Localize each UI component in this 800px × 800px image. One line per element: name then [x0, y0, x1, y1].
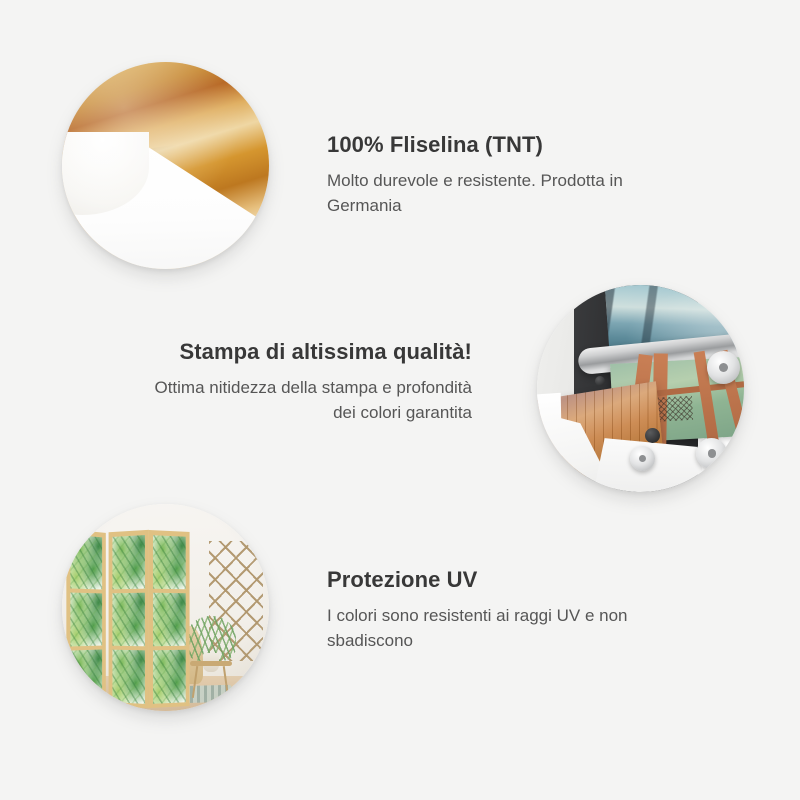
divider-pane: [153, 593, 186, 650]
divider-panel: [66, 529, 106, 709]
divider-pane: [112, 593, 145, 651]
printer-wheel: [707, 351, 740, 384]
printer-wheel: [696, 438, 727, 469]
tropical-room-divider-photo: [62, 504, 269, 711]
feature-description-fliselina: Molto durevole e resistente. Prodotta in…: [327, 169, 667, 219]
tropical-room-divider: [66, 531, 190, 707]
feature-image-fliselina: [62, 62, 269, 269]
printed-mesh: [657, 396, 692, 421]
divider-pane: [70, 592, 102, 650]
large-format-printer-photo: [537, 285, 744, 492]
divider-pane: [70, 534, 102, 593]
divider-pane: [153, 650, 186, 704]
divider-panel: [108, 530, 149, 708]
wheel-hub: [708, 449, 717, 458]
feature-text-stampa: Stampa di altissima qualità! Ottima niti…: [142, 340, 472, 426]
divider-pane: [153, 535, 186, 593]
divider-pane: [70, 649, 102, 704]
divider-pane: [112, 650, 145, 704]
photo-sheen: [62, 62, 269, 269]
feature-text-fliselina: 100% Fliselina (TNT) Molto durevole e re…: [327, 133, 667, 219]
feature-text-protezione-uv: Protezione UV I colori sono resistenti a…: [327, 568, 657, 654]
divider-pane: [112, 535, 145, 593]
feature-title-protezione-uv: Protezione UV: [327, 568, 657, 593]
divider-panel: [149, 530, 190, 708]
feature-description-protezione-uv: I colori sono resistenti ai raggi UV e n…: [327, 604, 657, 654]
feature-image-stampa: [537, 285, 744, 492]
feature-description-stampa: Ottima nitidezza della stampa e profondi…: [142, 376, 472, 426]
feature-title-stampa: Stampa di altissima qualità!: [142, 340, 472, 365]
wheel-hub: [639, 455, 646, 462]
wallpaper-roll-peeling-photo: [62, 62, 269, 269]
wheel-hub: [719, 363, 728, 372]
feature-image-protezione-uv: [62, 504, 269, 711]
feature-title-fliselina: 100% Fliselina (TNT): [327, 133, 667, 158]
feature-panel: 100% Fliselina (TNT) Molto durevole e re…: [0, 0, 800, 800]
